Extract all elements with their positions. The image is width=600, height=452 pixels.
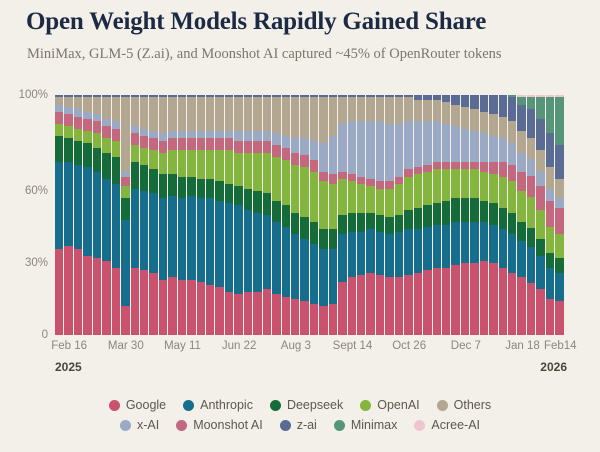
bar-segment xyxy=(461,169,469,198)
bar-segment xyxy=(555,234,563,258)
bar-column[interactable] xyxy=(470,95,479,335)
bar-segment xyxy=(499,95,507,117)
bar-column[interactable] xyxy=(197,95,206,335)
bar-segment xyxy=(348,121,356,174)
bar-segment xyxy=(131,145,139,162)
bar-segment xyxy=(536,289,544,335)
bar-segment xyxy=(263,141,271,153)
bar-segment xyxy=(489,114,497,136)
page-title: Open Weight Models Rapidly Gained Share xyxy=(26,8,486,36)
legend-swatch-icon xyxy=(280,420,291,431)
legend-item-google[interactable]: Google xyxy=(109,398,166,412)
bar-segment xyxy=(121,186,129,198)
legend-swatch-icon xyxy=(120,420,131,431)
bar-segment xyxy=(366,121,374,179)
bar-segment xyxy=(272,294,280,335)
bar-segment xyxy=(376,275,384,335)
legend-item-label: Acree-AI xyxy=(431,418,480,432)
bar-segment xyxy=(168,174,176,196)
bar-column[interactable] xyxy=(159,95,168,335)
bar-segment xyxy=(357,213,365,232)
bar-segment xyxy=(300,97,308,138)
bar-segment xyxy=(376,121,384,181)
bar-segment xyxy=(244,97,252,131)
bar-column[interactable] xyxy=(508,95,517,335)
bar-column[interactable] xyxy=(357,95,366,335)
bar-segment xyxy=(64,107,72,114)
bar-segment xyxy=(480,222,488,260)
bar-segment xyxy=(536,97,544,119)
bar-segment xyxy=(244,292,252,335)
bar-segment xyxy=(102,179,110,261)
bar-column[interactable] xyxy=(319,95,328,335)
bar-column[interactable] xyxy=(74,95,83,335)
bar-column[interactable] xyxy=(338,95,347,335)
bar-segment xyxy=(253,153,261,191)
legend-item-label: Minimax xyxy=(351,418,398,432)
bar-column[interactable] xyxy=(102,95,111,335)
bar-segment xyxy=(329,249,337,304)
bar-column[interactable] xyxy=(555,95,564,335)
bar-segment xyxy=(414,167,422,174)
bar-column[interactable] xyxy=(546,95,555,335)
legend-item-others[interactable]: Others xyxy=(437,398,492,412)
bar-column[interactable] xyxy=(376,95,385,335)
bar-segment xyxy=(234,97,242,131)
bar-segment xyxy=(112,129,120,141)
bar-segment xyxy=(131,97,139,126)
bar-column[interactable] xyxy=(489,95,498,335)
bar-segment xyxy=(310,172,318,222)
bar-segment xyxy=(451,105,459,127)
bar-segment xyxy=(442,225,450,268)
bar-column[interactable] xyxy=(442,95,451,335)
bar-column[interactable] xyxy=(404,95,413,335)
bar-segment xyxy=(291,165,299,213)
bar-segment xyxy=(404,275,412,335)
bar-segment xyxy=(489,174,497,203)
bar-segment xyxy=(131,133,139,145)
bar-column[interactable] xyxy=(121,95,130,335)
bar-segment xyxy=(348,213,356,232)
bar-segment xyxy=(338,124,346,172)
bar-segment xyxy=(433,100,441,122)
bar-segment xyxy=(555,258,563,272)
bar-segment xyxy=(93,172,101,258)
bar-segment xyxy=(234,131,242,141)
bar-segment xyxy=(206,179,214,198)
bar-segment xyxy=(112,141,120,158)
bar-segment xyxy=(451,169,459,198)
bar-segment xyxy=(536,239,544,256)
bar-segment xyxy=(348,97,356,121)
bar-segment xyxy=(83,119,91,131)
bar-segment xyxy=(244,210,252,292)
bar-segment xyxy=(536,150,544,172)
bar-segment xyxy=(366,213,374,230)
bar-segment xyxy=(480,261,488,335)
legend-swatch-icon xyxy=(270,400,281,411)
bar-segment xyxy=(404,121,412,169)
bar-segment xyxy=(489,162,497,174)
bar-segment xyxy=(168,138,176,150)
bar-segment xyxy=(178,150,186,176)
bar-segment xyxy=(470,263,478,335)
bar-segment xyxy=(149,273,157,335)
bar-segment xyxy=(253,141,261,153)
bar-segment xyxy=(357,232,365,275)
bar-segment xyxy=(348,174,356,181)
bar-segment xyxy=(197,150,205,179)
bar-segment xyxy=(366,179,374,186)
legend-item-x-ai[interactable]: x-AI xyxy=(120,418,159,432)
bar-segment xyxy=(489,136,497,162)
bar-segment xyxy=(555,301,563,335)
bar-segment xyxy=(395,124,403,177)
bar-segment xyxy=(149,138,157,150)
bar-segment xyxy=(74,165,82,249)
bar-column[interactable] xyxy=(206,95,215,335)
bar-segment xyxy=(244,131,252,141)
legend-item-label: Deepseek xyxy=(287,398,343,412)
legend-item-label: OpenAI xyxy=(377,398,419,412)
bar-segment xyxy=(366,273,374,335)
bar-column[interactable] xyxy=(178,95,187,335)
bar-segment xyxy=(555,198,563,208)
bar-column[interactable] xyxy=(149,95,158,335)
bar-segment xyxy=(546,227,554,253)
bar-segment xyxy=(282,148,290,160)
bar-segment xyxy=(499,117,507,139)
bar-segment xyxy=(329,304,337,335)
legend-item-minimax[interactable]: Minimax xyxy=(334,418,398,432)
bar-column[interactable] xyxy=(215,95,224,335)
bar-segment xyxy=(178,138,186,150)
bar-column[interactable] xyxy=(112,95,121,335)
bar-column[interactable] xyxy=(55,95,64,335)
bar-column[interactable] xyxy=(140,95,149,335)
bar-segment xyxy=(357,184,365,213)
bar-segment xyxy=(263,131,271,141)
bar-column[interactable] xyxy=(300,95,309,335)
plot-area xyxy=(55,95,565,335)
bar-segment xyxy=(451,198,459,222)
bar-segment xyxy=(187,196,195,280)
bar-column[interactable] xyxy=(414,95,423,335)
bar-segment xyxy=(385,97,393,123)
bar-column[interactable] xyxy=(310,95,319,335)
bar-column[interactable] xyxy=(168,95,177,335)
bar-segment xyxy=(187,280,195,335)
bar-column[interactable] xyxy=(517,95,526,335)
bar-segment xyxy=(385,234,393,277)
bar-column[interactable] xyxy=(451,95,460,335)
y-axis-tick-label: 30% xyxy=(25,257,48,269)
bar-column[interactable] xyxy=(291,95,300,335)
page-subtitle: MiniMax, GLM-5 (Z.ai), and Moonshot AI c… xyxy=(27,46,502,63)
bar-segment xyxy=(404,229,412,275)
bar-column[interactable] xyxy=(253,95,262,335)
bar-column[interactable] xyxy=(263,95,272,335)
bar-segment xyxy=(282,205,290,227)
x-axis-tick-label: Dec 7 xyxy=(451,340,481,352)
bar-segment xyxy=(206,97,214,131)
legend-item-acree-ai[interactable]: Acree-AI xyxy=(414,418,480,432)
bar-column[interactable] xyxy=(244,95,253,335)
bar-segment xyxy=(282,297,290,335)
bar-segment xyxy=(508,121,516,143)
bar-column[interactable] xyxy=(64,95,73,335)
bar-segment xyxy=(442,95,450,102)
bar-segment xyxy=(470,109,478,131)
bar-column[interactable] xyxy=(83,95,92,335)
bar-segment xyxy=(272,133,280,145)
bar-column[interactable] xyxy=(234,95,243,335)
bar-segment xyxy=(414,100,422,122)
bar-segment xyxy=(546,167,554,189)
bar-segment xyxy=(225,184,233,203)
bar-segment xyxy=(291,97,299,138)
bar-segment xyxy=(197,138,205,150)
bar-column[interactable] xyxy=(131,95,140,335)
x-axis-tick-label: May 11 xyxy=(164,340,201,352)
bar-segment xyxy=(112,268,120,335)
bar-segment xyxy=(83,143,91,167)
bar-segment xyxy=(489,203,497,225)
bar-segment xyxy=(517,191,525,222)
bar-segment xyxy=(178,131,186,138)
bar-segment xyxy=(546,299,554,335)
bar-segment xyxy=(329,136,337,174)
bar-segment xyxy=(319,249,327,307)
bar-segment xyxy=(451,126,459,162)
bar-segment xyxy=(159,198,167,280)
bar-segment xyxy=(385,189,393,218)
bar-column[interactable] xyxy=(187,95,196,335)
legend-item-z-ai[interactable]: z-ai xyxy=(280,418,317,432)
bar-segment xyxy=(348,277,356,335)
bar-segment xyxy=(272,201,280,223)
bar-segment xyxy=(461,263,469,335)
y-axis: 030%60%100% xyxy=(0,95,48,335)
bar-segment xyxy=(55,249,63,335)
bar-segment xyxy=(527,138,535,159)
bar-segment xyxy=(253,97,261,131)
bar-segment xyxy=(64,97,72,107)
legend-item-anthropic[interactable]: Anthropic xyxy=(183,398,253,412)
legend-item-openai[interactable]: OpenAI xyxy=(360,398,419,412)
bar-segment xyxy=(508,181,516,212)
bar-segment xyxy=(74,109,82,116)
bar-segment xyxy=(451,265,459,335)
bar-column[interactable] xyxy=(461,95,470,335)
bar-segment xyxy=(74,129,82,141)
bar-segment xyxy=(536,256,544,290)
bar-segment xyxy=(338,179,346,215)
bar-segment xyxy=(442,124,450,162)
bar-segment xyxy=(310,160,318,172)
bar-segment xyxy=(338,215,346,234)
bar-segment xyxy=(121,97,129,171)
bar-segment xyxy=(140,165,148,191)
bar-segment xyxy=(508,234,516,272)
bar-segment xyxy=(149,169,157,193)
bar-segment xyxy=(376,189,384,215)
x-axis-tick-label: Sept 14 xyxy=(333,340,373,352)
bar-column[interactable] xyxy=(423,95,432,335)
bar-segment xyxy=(395,177,403,184)
x-axis-tick-label: Jan 18 xyxy=(505,340,540,352)
bar-column[interactable] xyxy=(348,95,357,335)
bar-column[interactable] xyxy=(225,95,234,335)
bar-segment xyxy=(338,97,346,123)
bar-segment xyxy=(234,141,242,153)
bar-segment xyxy=(555,273,563,302)
legend-swatch-icon xyxy=(360,400,371,411)
bar-segment xyxy=(442,169,450,200)
bar-segment xyxy=(168,196,176,278)
bar-segment xyxy=(329,229,337,248)
bar-segment xyxy=(536,119,544,150)
y-axis-tick-label: 100% xyxy=(19,89,48,101)
bar-column[interactable] xyxy=(329,95,338,335)
bar-segment xyxy=(225,131,233,138)
bar-segment xyxy=(499,162,507,176)
bar-column[interactable] xyxy=(395,95,404,335)
bar-segment xyxy=(168,277,176,335)
bar-segment xyxy=(83,131,91,143)
bar-segment xyxy=(159,133,167,140)
bar-segment xyxy=(423,205,431,227)
bar-segment xyxy=(83,97,91,111)
bar-segment xyxy=(433,268,441,335)
bar-segment xyxy=(74,97,82,109)
legend-swatch-icon xyxy=(183,400,194,411)
legend-item-label: Moonshot AI xyxy=(193,418,263,432)
bar-segment xyxy=(527,283,535,335)
bar-segment xyxy=(234,205,242,294)
bar-segment xyxy=(272,222,280,294)
bar-segment xyxy=(93,148,101,172)
bar-segment xyxy=(508,165,516,182)
year-label-start: 2025 xyxy=(55,360,82,374)
bar-segment xyxy=(555,145,563,179)
y-axis-tick-label: 0 xyxy=(42,329,48,341)
bar-segment xyxy=(263,193,271,215)
bar-segment xyxy=(517,222,525,241)
bar-segment xyxy=(414,174,422,208)
bar-segment xyxy=(451,162,459,169)
bar-segment xyxy=(121,177,129,187)
bar-column[interactable] xyxy=(480,95,489,335)
bar-segment xyxy=(263,289,271,335)
bar-segment xyxy=(329,174,337,184)
bar-segment xyxy=(244,141,252,153)
legend-item-moonshot-ai[interactable]: Moonshot AI xyxy=(176,418,263,432)
bar-segment xyxy=(480,95,488,112)
bar-segment xyxy=(159,153,167,175)
bar-segment xyxy=(480,112,488,134)
bar-segment xyxy=(55,112,63,124)
bar-segment xyxy=(546,133,554,167)
legend-swatch-icon xyxy=(176,420,187,431)
bar-column[interactable] xyxy=(366,95,375,335)
bar-segment xyxy=(253,191,261,213)
bar-segment xyxy=(319,143,327,172)
bar-segment xyxy=(489,263,497,335)
bar-segment xyxy=(112,121,120,128)
bar-segment xyxy=(140,148,148,165)
bar-segment xyxy=(272,97,280,133)
bar-segment xyxy=(131,268,139,335)
x-axis-tick-label: Oct 26 xyxy=(392,340,426,352)
bar-column[interactable] xyxy=(536,95,545,335)
bar-segment xyxy=(480,162,488,172)
bar-segment xyxy=(489,95,497,114)
bar-segment xyxy=(555,97,563,145)
bar-segment xyxy=(414,208,422,230)
bar-segment xyxy=(234,186,242,205)
bar-segment xyxy=(546,268,554,299)
bar-column[interactable] xyxy=(282,95,291,335)
bar-segment xyxy=(93,121,101,133)
bar-segment xyxy=(140,136,148,148)
bar-segment xyxy=(461,198,469,222)
bar-segment xyxy=(131,189,139,268)
bar-column[interactable] xyxy=(272,95,281,335)
bar-segment xyxy=(206,198,214,284)
bar-column[interactable] xyxy=(433,95,442,335)
legend-swatch-icon xyxy=(334,420,345,431)
year-label-end: 2026 xyxy=(540,360,567,374)
bar-segment xyxy=(93,114,101,121)
bar-segment xyxy=(225,292,233,335)
bar-segment xyxy=(102,261,110,335)
bar-segment xyxy=(215,287,223,335)
bar-segment xyxy=(470,222,478,263)
bar-segment xyxy=(215,150,223,181)
bar-segment xyxy=(499,268,507,335)
bar-column[interactable] xyxy=(93,95,102,335)
bar-segment xyxy=(291,299,299,335)
bar-segment xyxy=(385,181,393,188)
bar-segment xyxy=(357,121,365,176)
legend-swatch-icon xyxy=(109,400,120,411)
bar-segment xyxy=(423,100,431,122)
legend-item-label: x-AI xyxy=(137,418,159,432)
bar-segment xyxy=(197,97,205,131)
legend-item-deepseek[interactable]: Deepseek xyxy=(270,398,343,412)
bar-segment xyxy=(102,119,110,126)
bar-column[interactable] xyxy=(527,95,536,335)
x-axis-tick-label: Feb14 xyxy=(544,340,577,352)
bar-segment xyxy=(112,157,120,183)
bar-segment xyxy=(206,285,214,335)
bar-segment xyxy=(366,229,374,272)
bar-segment xyxy=(131,126,139,133)
bar-segment xyxy=(357,177,365,184)
bar-segment xyxy=(55,105,63,112)
bar-segment xyxy=(159,141,167,153)
bar-segment xyxy=(319,306,327,335)
bar-column[interactable] xyxy=(499,95,508,335)
bar-column[interactable] xyxy=(385,95,394,335)
bar-segment xyxy=(112,97,120,121)
bar-segment xyxy=(83,112,91,119)
chart-container: Open Weight Models Rapidly Gained Share … xyxy=(0,0,600,452)
bar-segment xyxy=(376,97,384,121)
bar-segment xyxy=(64,114,72,126)
